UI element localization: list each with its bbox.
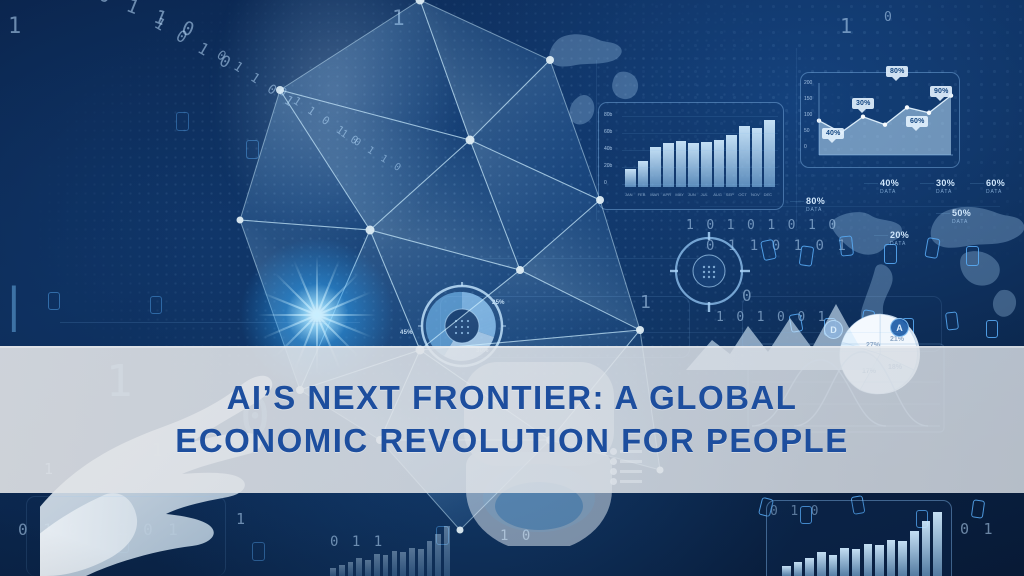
map-stat-label: DATA <box>936 189 952 195</box>
node-badge-a-label: A <box>896 323 903 333</box>
map-stat-connector <box>920 183 934 184</box>
map-stat-connector <box>874 235 888 236</box>
sparkline-bar <box>409 548 415 576</box>
area-chart-svg <box>801 73 961 169</box>
map-stat-connector <box>864 183 878 184</box>
map-stat-connector <box>790 201 804 202</box>
bar-chart-bar <box>739 126 750 187</box>
area-chart-panel <box>800 72 960 168</box>
sparkline-bar <box>829 555 838 576</box>
sparkline-bar <box>348 562 354 576</box>
sparkline-bar <box>392 551 398 576</box>
title-line-1: AI’S NEXT FRONTIER: A GLOBAL <box>227 377 798 419</box>
sparkline-bar <box>933 512 942 576</box>
bar-chart-bar <box>764 120 775 187</box>
bar-chart-bar <box>726 135 737 187</box>
sparkline-bar <box>400 552 406 576</box>
bar-chart-panel <box>598 102 784 210</box>
sparkline-bar <box>383 555 389 576</box>
map-stat-connector <box>936 213 950 214</box>
sparkline-bar <box>875 545 884 576</box>
map-stat-value: 30% <box>936 178 955 188</box>
sparkline-bar <box>817 552 826 576</box>
sparkline-bar <box>840 548 849 576</box>
donut-chart-label: 45% <box>400 330 413 336</box>
sparkline-bar <box>898 541 907 576</box>
sparkline-bar <box>864 544 873 576</box>
sparkline-bar <box>922 521 931 576</box>
map-stat-value: 40% <box>880 178 899 188</box>
bar-chart-bar <box>650 147 661 187</box>
map-stat-value: 50% <box>952 208 971 218</box>
node-badge-a: A <box>890 318 909 337</box>
map-stat-value: 60% <box>986 178 1005 188</box>
map-stat-label: DATA <box>890 241 906 247</box>
sparkline-bar <box>356 558 362 576</box>
area-chart-point <box>927 111 931 115</box>
map-stat-value: 20% <box>890 230 909 240</box>
sparkline-bar <box>339 565 345 576</box>
map-stat-label: DATA <box>806 207 822 213</box>
bar-chart-bar <box>701 142 712 187</box>
title-line-2: ECONOMIC REVOLUTION FOR PEOPLE <box>175 420 848 462</box>
map-stat-label: DATA <box>880 189 896 195</box>
area-chart-point <box>883 122 887 126</box>
bar-chart-bar <box>714 140 725 187</box>
sparkline-bar <box>910 531 919 576</box>
sparkline-bar <box>794 562 803 576</box>
bar-chart-bar <box>625 169 636 188</box>
bar-chart-bar <box>638 161 649 187</box>
map-stat-connector <box>970 183 984 184</box>
sparkline-bars <box>782 506 942 576</box>
sparkline-bar <box>365 560 371 576</box>
sparkline-bar <box>805 558 814 576</box>
sparkline-bar <box>330 568 336 576</box>
area-chart-point <box>839 130 843 134</box>
bar-chart-bar <box>663 143 674 187</box>
area-chart-point <box>949 93 953 97</box>
map-stat-label: DATA <box>986 189 1002 195</box>
sparkline-bar <box>887 540 896 576</box>
sparkline-bar <box>427 541 433 576</box>
bar-chart-bar <box>752 128 763 187</box>
banner-image: 1 0 1 1 0 1 0 1 0 0 1 1 0 1 0 1 1 0 1 0 … <box>0 0 1024 576</box>
title-band: AI’S NEXT FRONTIER: A GLOBAL ECONOMIC RE… <box>0 346 1024 493</box>
area-chart-point <box>905 105 909 109</box>
sparkline-bar <box>374 554 380 576</box>
map-stat-value: 80% <box>806 196 825 206</box>
sparkline-bar <box>782 566 791 576</box>
sparkline-bar <box>418 549 424 576</box>
sparkline-bars-secondary <box>330 520 450 576</box>
map-stat-label: DATA <box>952 219 968 225</box>
bar-chart-bar <box>688 143 699 187</box>
area-chart-point <box>861 115 865 119</box>
face-silhouette <box>215 0 455 260</box>
bar-chart-bar <box>676 141 687 187</box>
sparkline-bar <box>852 549 861 576</box>
